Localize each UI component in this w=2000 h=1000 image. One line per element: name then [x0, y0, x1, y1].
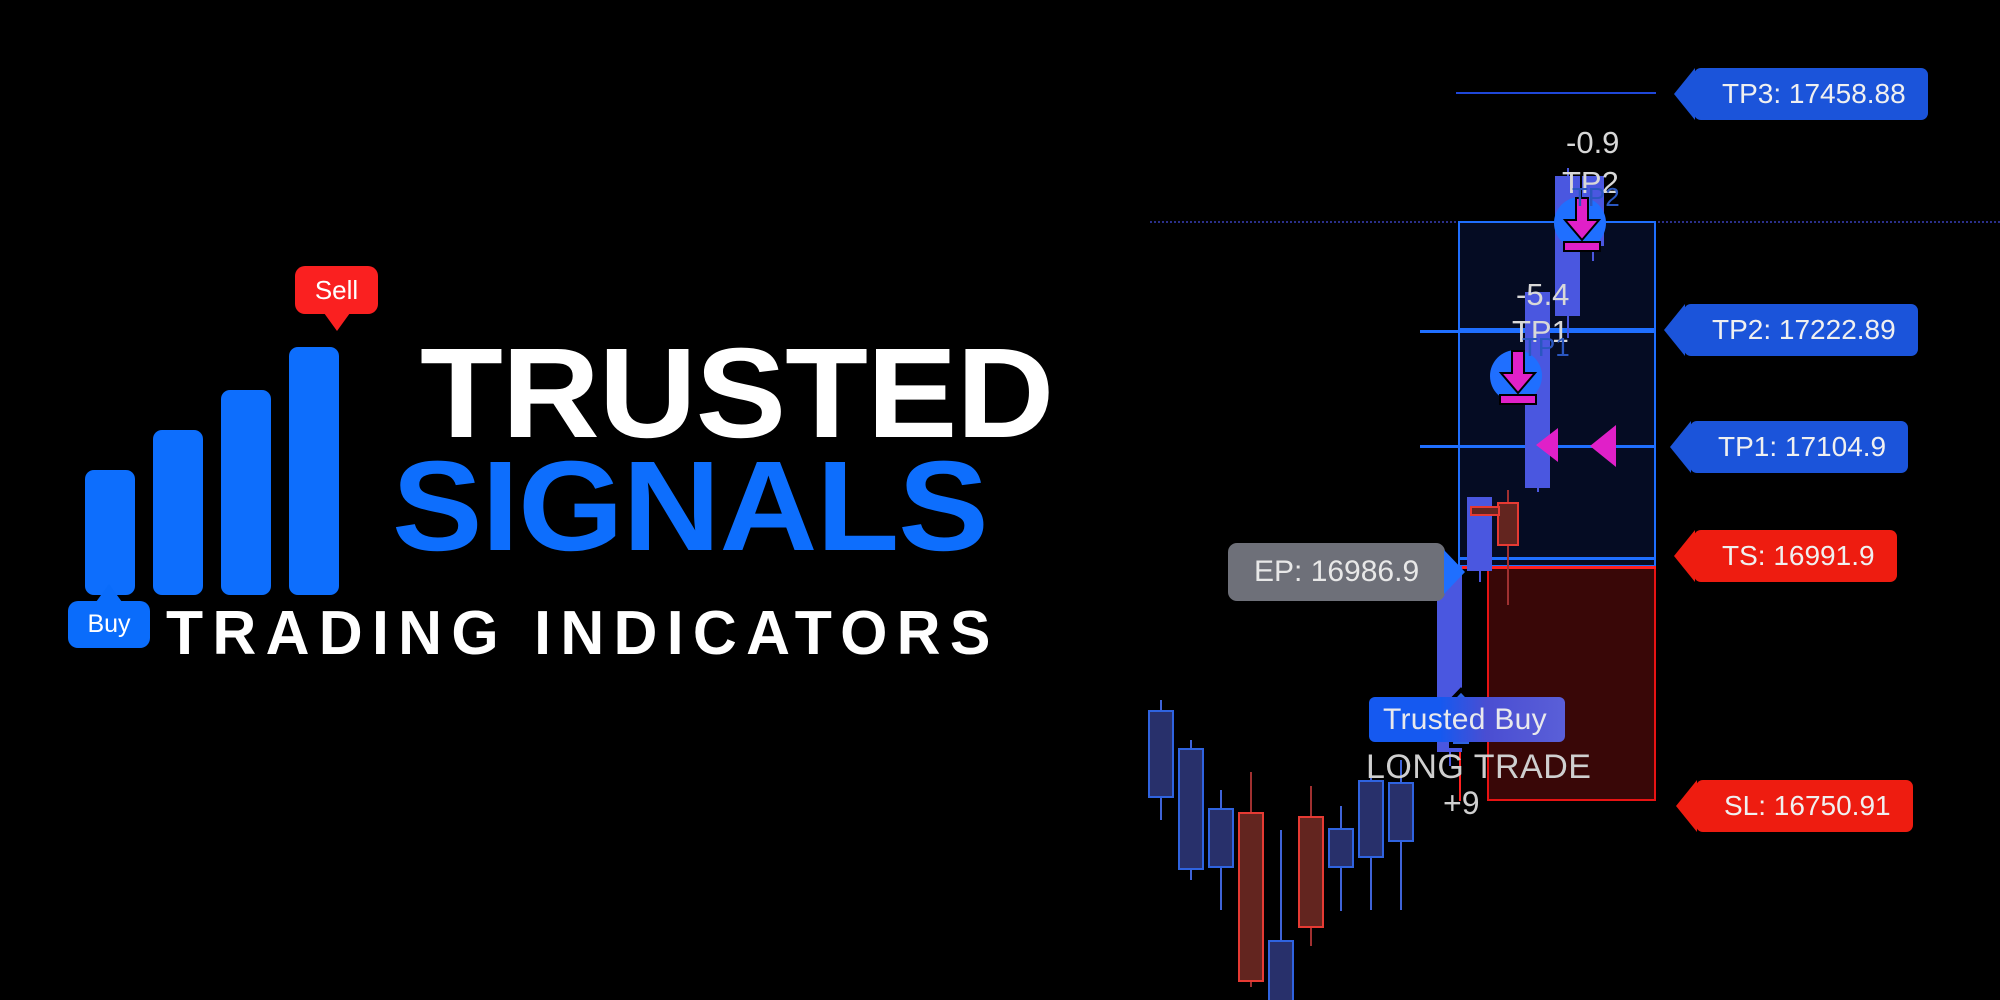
candle — [1497, 490, 1519, 605]
sell-badge-pointer — [324, 313, 350, 331]
entry-price-label: EP: 16986.9 — [1254, 555, 1419, 589]
buy-badge: Buy — [68, 601, 150, 648]
candle — [1208, 790, 1234, 910]
buy-badge-pointer — [96, 584, 122, 602]
trade-type-label: LONG TRADE — [1366, 748, 1591, 787]
candle — [1178, 740, 1204, 880]
price-tag-notch — [1674, 68, 1695, 120]
logo-bar-1 — [85, 470, 135, 595]
sell-badge: Sell — [295, 266, 378, 314]
left-triangle-marker-icon — [1590, 425, 1616, 467]
bar-chart-logo-icon — [85, 455, 345, 595]
logo-bar-2 — [153, 430, 203, 595]
price-tag-sl[interactable]: SL: 16750.91 — [1696, 780, 1913, 832]
price-tag-label: TP3: 17458.88 — [1722, 78, 1906, 110]
tp2-pct-label: -0.9 — [1566, 125, 1619, 161]
signal-badge-label: Trusted Buy — [1383, 703, 1547, 737]
tp3-level-line — [1456, 92, 1656, 94]
brand-title-line2: SIGNALS — [392, 443, 988, 571]
bars-count-label: +9 — [1443, 785, 1479, 822]
candle — [1358, 770, 1384, 910]
price-tag-label: TS: 16991.9 — [1722, 540, 1875, 572]
tp2-ghost-label: TP2 — [1572, 182, 1620, 213]
price-tag-label: TP1: 17104.9 — [1718, 431, 1886, 463]
price-tag-tp3[interactable]: TP3: 17458.88 — [1694, 68, 1928, 120]
candle — [1268, 830, 1294, 1000]
price-tag-notch — [1664, 304, 1685, 356]
left-triangle-marker-icon — [1536, 428, 1558, 462]
price-tag-tp2[interactable]: TP2: 17222.89 — [1684, 304, 1918, 356]
tp1-pct-label: -5.4 — [1516, 277, 1569, 313]
signal-badge: Trusted Buy — [1369, 697, 1565, 742]
logo-bar-3 — [221, 390, 271, 595]
candle — [1470, 506, 1500, 516]
price-tag-label: SL: 16750.91 — [1724, 790, 1891, 822]
price-tag-notch — [1674, 530, 1695, 582]
candle — [1238, 772, 1264, 987]
entry-price-tooltip: EP: 16986.9 — [1228, 543, 1445, 601]
price-tag-notch — [1676, 780, 1697, 832]
brand-tagline: TRADING INDICATORS — [166, 603, 1000, 665]
sell-badge-label: Sell — [315, 275, 358, 306]
candle — [1298, 786, 1324, 946]
tp1-ghost-label: TP1 — [1522, 332, 1570, 363]
price-tag-tp1[interactable]: TP1: 17104.9 — [1690, 421, 1908, 473]
brand-logo: Sell Buy TRUSTED SIGNALS TRADING INDICAT… — [0, 0, 1180, 1000]
logo-bar-4 — [289, 347, 339, 595]
buy-badge-label: Buy — [87, 610, 130, 639]
entry-price-pointer — [1444, 550, 1465, 594]
price-tag-label: TP2: 17222.89 — [1712, 314, 1896, 346]
price-tag-ts[interactable]: TS: 16991.9 — [1694, 530, 1897, 582]
candle — [1148, 700, 1174, 820]
screenshot-root: Sell Buy TRUSTED SIGNALS TRADING INDICAT… — [0, 0, 2000, 1000]
price-tag-notch — [1670, 421, 1691, 473]
candle — [1328, 806, 1354, 911]
